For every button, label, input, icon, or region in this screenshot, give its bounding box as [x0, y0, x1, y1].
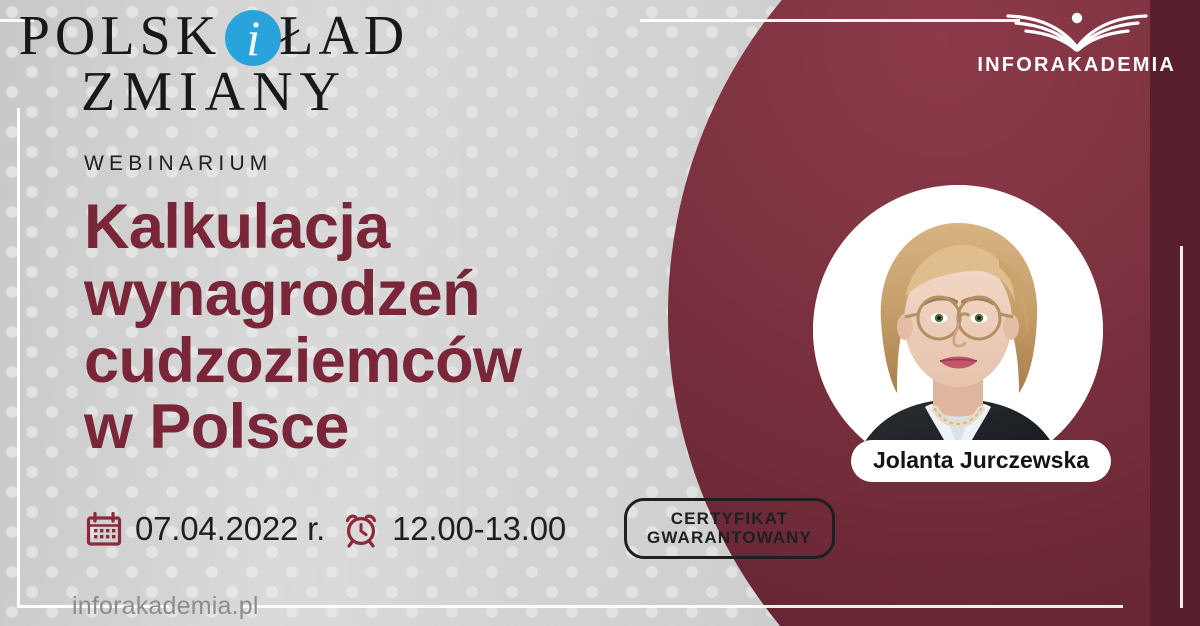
event-time-text: 12.00-13.00 [392, 510, 566, 548]
polski-lad-line-2: ZMIANY [14, 63, 414, 122]
polski-lad-text-a: POLSK [19, 5, 221, 67]
frame-line-bottom [243, 605, 1123, 608]
webinar-promo-banner: POLSKiŁAD ZMIANY INFORAKADEMIA WEBINARIU… [0, 0, 1200, 626]
event-time: 12.00-13.00 [341, 509, 566, 549]
frame-line-left [17, 108, 20, 608]
certificate-line-1: CERTYFIKAT [647, 509, 812, 528]
portrait-photo [813, 185, 1103, 475]
title-line-4: w Polsce [84, 394, 724, 461]
speaker-portrait: Jolanta Jurczewska [813, 185, 1103, 475]
page-title: Kalkulacja wynagrodzeń cudzoziemców w Po… [84, 194, 724, 461]
polski-lad-line-1: POLSKiŁAD [19, 8, 409, 65]
frame-line-top-right [640, 19, 1020, 22]
polski-lad-logo: POLSKiŁAD ZMIANY [14, 8, 414, 122]
certificate-badge: CERTYFIKAT GWARANTOWANY [624, 498, 835, 559]
maroon-right-edge-block [1150, 0, 1200, 626]
event-meta-row: 07.04.2022 r. 12.00-13.00 CERTYFIKAT GWA… [84, 498, 835, 559]
open-book-wings-icon [1002, 6, 1152, 52]
event-date-text: 07.04.2022 r. [135, 510, 325, 548]
certificate-line-2: GWARANTOWANY [647, 528, 812, 547]
speaker-name-badge: Jolanta Jurczewska [851, 440, 1111, 482]
portrait-circle-frame [813, 185, 1103, 475]
footer-website-url: inforakademia.pl [72, 592, 259, 621]
kicker-webinarium: WEBINARIUM [84, 152, 724, 176]
title-line-1: Kalkulacja [84, 194, 724, 261]
calendar-icon [84, 509, 124, 549]
polski-lad-text-b: ŁAD [279, 5, 409, 67]
inforakademia-logo: INFORAKADEMIA [977, 6, 1176, 77]
title-line-2: wynagrodzeń [84, 261, 724, 328]
event-date: 07.04.2022 r. [84, 509, 325, 549]
polski-lad-i-glyph: i [221, 10, 285, 66]
content-block: WEBINARIUM Kalkulacja wynagrodzeń cudzoz… [84, 152, 724, 461]
title-line-3: cudzoziemców [84, 328, 724, 395]
frame-line-right [1180, 246, 1183, 608]
alarm-clock-icon [341, 509, 381, 549]
inforakademia-wordmark: INFORAKADEMIA [977, 54, 1176, 77]
